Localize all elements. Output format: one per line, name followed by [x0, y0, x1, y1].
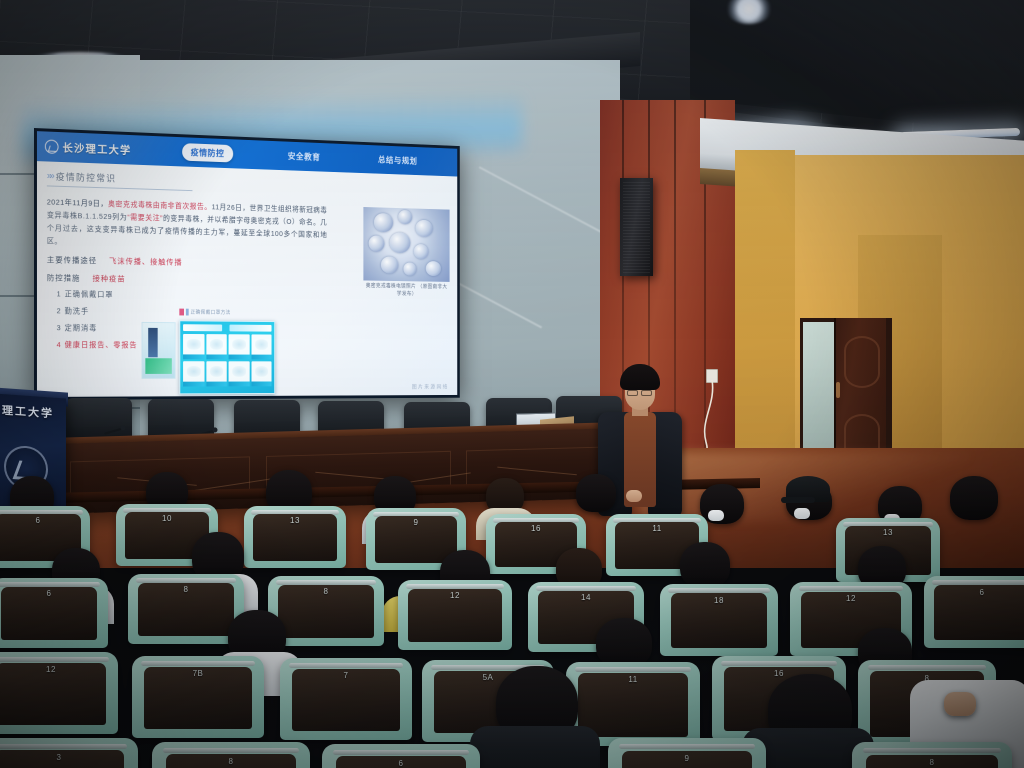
poster-step	[206, 334, 227, 359]
door-handle-icon[interactable]	[836, 382, 840, 398]
virus-micrograph-image	[363, 207, 449, 282]
seat-number: 11	[606, 524, 708, 533]
audience-head	[596, 618, 652, 668]
seat-number: 13	[836, 528, 940, 537]
slide-body: »» 疫情防控常识 2021年11月9日，奥密克戎毒株由南非首次报告。11月26…	[37, 161, 457, 397]
para-variant: 奥密克戎毒株由南非首次报告。	[108, 199, 212, 211]
seat-number: 9	[366, 518, 466, 527]
audience-shoulders	[470, 726, 600, 768]
seat-number: 7B	[132, 669, 264, 678]
seat-number: 12	[0, 665, 118, 674]
auditorium-seat: 12	[0, 652, 118, 734]
tab-safety-education[interactable]: 安全教育	[283, 148, 325, 165]
poster-step	[251, 334, 271, 359]
seat-number: 6	[924, 588, 1024, 597]
section-heading-text: 疫情防控常识	[56, 170, 117, 185]
poster-badge-text: 正确佩戴口罩方法	[191, 309, 231, 316]
auditorium-seat: 8	[852, 742, 1012, 768]
poster-side-image	[142, 322, 176, 379]
measures-label: 防控措施	[47, 273, 81, 282]
auditorium-seat: 13	[244, 506, 346, 568]
audience-seating: 6 10 13 9 16 11 13	[0, 470, 1024, 768]
tab-summary-plan[interactable]: 总结与规划	[374, 152, 422, 169]
badge-square-icon	[179, 309, 184, 316]
seat-number: 6	[0, 589, 108, 598]
checklist-item: 2 勤洗手	[47, 305, 449, 320]
seat-number: 7	[280, 671, 412, 680]
poster-step	[229, 334, 250, 359]
seat-number: 9	[608, 754, 766, 763]
university-crest-icon: 长沙理工大学	[37, 139, 132, 158]
poster-title-bar	[180, 321, 274, 334]
face-mask-icon	[794, 508, 810, 519]
cap-icon	[786, 476, 830, 502]
poster-badge: 正确佩戴口罩方法	[179, 309, 230, 316]
audience-head	[950, 476, 998, 520]
seat-number: 8	[128, 585, 244, 594]
poster-step	[229, 361, 250, 386]
auditorium-seat: 6	[0, 578, 108, 648]
slide-paragraph: 2021年11月9日，奥密克戎毒株由南非首次报告。11月26日，世界卫生组织将新…	[47, 195, 327, 253]
seat-number: 12	[398, 591, 512, 600]
auditorium-seat: 12	[398, 580, 512, 650]
face-mask-icon	[708, 510, 724, 521]
transmission-label: 主要传播途径	[47, 255, 97, 265]
auditorium-seat: 18	[660, 584, 778, 656]
seat-number: 6	[322, 759, 480, 768]
seat-number: 11	[566, 675, 700, 684]
double-chevron-right-icon: »»	[47, 170, 52, 181]
slide-footer-note: 图片来源网络	[412, 383, 449, 391]
badge-square-icon	[186, 309, 189, 316]
seat-number: 10	[116, 514, 218, 523]
auditorium-seat: 7B	[132, 656, 264, 738]
audience-head	[680, 542, 730, 588]
poster-step	[251, 361, 271, 386]
poster-step-grid	[180, 334, 274, 390]
measures-value: 接种疫苗	[92, 274, 125, 283]
seat-number: 18	[660, 596, 778, 605]
para-voc: “需要关注”	[127, 213, 163, 223]
seat-number: 13	[244, 516, 346, 525]
tab-epidemic-prevention[interactable]: 疫情防控	[182, 143, 233, 162]
auditorium-seat: 9	[608, 738, 766, 768]
mask-instruction-poster	[179, 320, 275, 394]
glasses-icon	[641, 390, 652, 396]
audience-head	[576, 474, 616, 512]
poster-title-left	[183, 324, 222, 331]
seat-number: 6	[0, 516, 90, 525]
seat-number: 14	[528, 593, 644, 602]
loudspeaker-icon	[620, 178, 653, 276]
seat-number: 12	[790, 594, 912, 603]
seat-number: 8	[852, 758, 1012, 767]
para-date: 2021年11月9日，	[47, 197, 108, 208]
poster-step	[206, 361, 227, 386]
section-heading: »» 疫情防控常识	[47, 169, 193, 191]
auditorium-seat: 6	[322, 744, 480, 768]
university-name: 长沙理工大学	[62, 140, 131, 158]
audience-hand	[944, 692, 976, 716]
auditorium-seat: 8	[152, 742, 310, 768]
auditorium-seat: 7	[280, 658, 412, 740]
poster-title-right	[230, 325, 272, 332]
poster-step	[183, 361, 204, 386]
seat-number: 8	[268, 587, 384, 596]
presenter-hair	[620, 364, 660, 390]
lecture-hall-photo: 长沙理工大学 疫情防控 安全教育 总结与规划 »» 疫情防控常识 2021年11…	[0, 0, 1024, 768]
auditorium-seat: 3	[0, 738, 138, 768]
transmission-value: 飞沫传播、接触传播	[109, 257, 182, 267]
seat-number: 8	[152, 757, 310, 766]
micrograph-caption: 奥密克戎毒株电镜照片 （原图南非大学发布）	[363, 282, 449, 298]
seat-number: 3	[0, 753, 138, 762]
seat-number: 16	[486, 524, 586, 533]
glasses-icon	[627, 390, 638, 396]
poster-step	[183, 334, 204, 359]
auditorium-seat: 8	[128, 574, 244, 644]
auditorium-seat: 6	[924, 576, 1024, 648]
projection-screen[interactable]: 长沙理工大学 疫情防控 安全教育 总结与规划 »» 疫情防控常识 2021年11…	[34, 128, 460, 400]
